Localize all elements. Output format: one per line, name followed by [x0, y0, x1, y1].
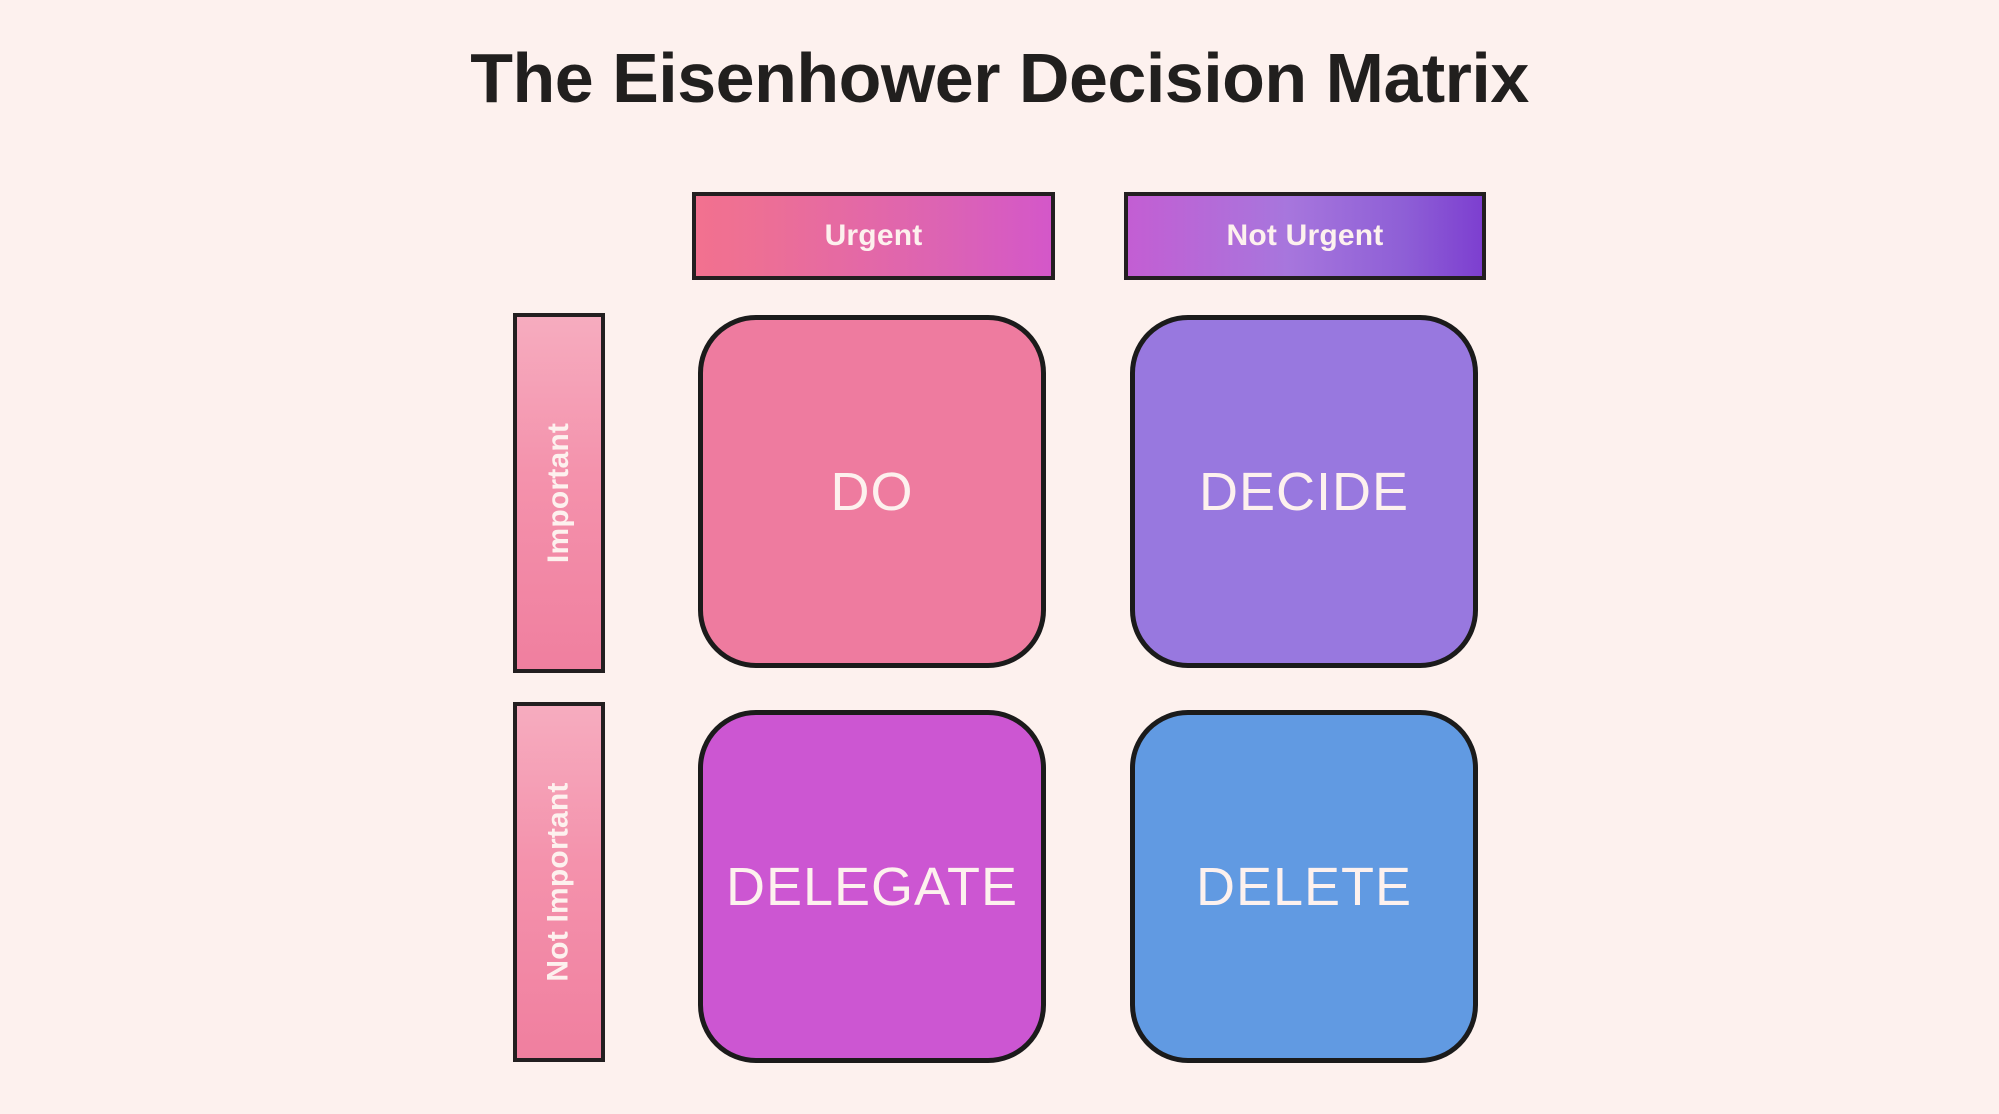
quadrant-do-label: DO	[831, 461, 914, 523]
row-header-not-important-label: Not Important	[542, 782, 576, 981]
quadrant-delete[interactable]: DELETE	[1130, 710, 1478, 1063]
row-header-not-important: Not Important	[513, 702, 605, 1062]
column-header-urgent: Urgent	[692, 192, 1055, 280]
quadrant-decide[interactable]: DECIDE	[1130, 315, 1478, 668]
quadrant-delegate[interactable]: DELEGATE	[698, 710, 1046, 1063]
quadrant-delete-label: DELETE	[1196, 856, 1412, 918]
quadrant-delegate-label: DELEGATE	[726, 856, 1018, 918]
row-header-important: Important	[513, 313, 605, 673]
quadrant-decide-label: DECIDE	[1199, 461, 1409, 523]
quadrant-do[interactable]: DO	[698, 315, 1046, 668]
column-header-urgent-label: Urgent	[825, 219, 923, 253]
page-title: The Eisenhower Decision Matrix	[0, 38, 1999, 118]
row-header-important-label: Important	[542, 423, 576, 563]
column-header-not-urgent-label: Not Urgent	[1227, 219, 1384, 253]
column-header-not-urgent: Not Urgent	[1124, 192, 1486, 280]
